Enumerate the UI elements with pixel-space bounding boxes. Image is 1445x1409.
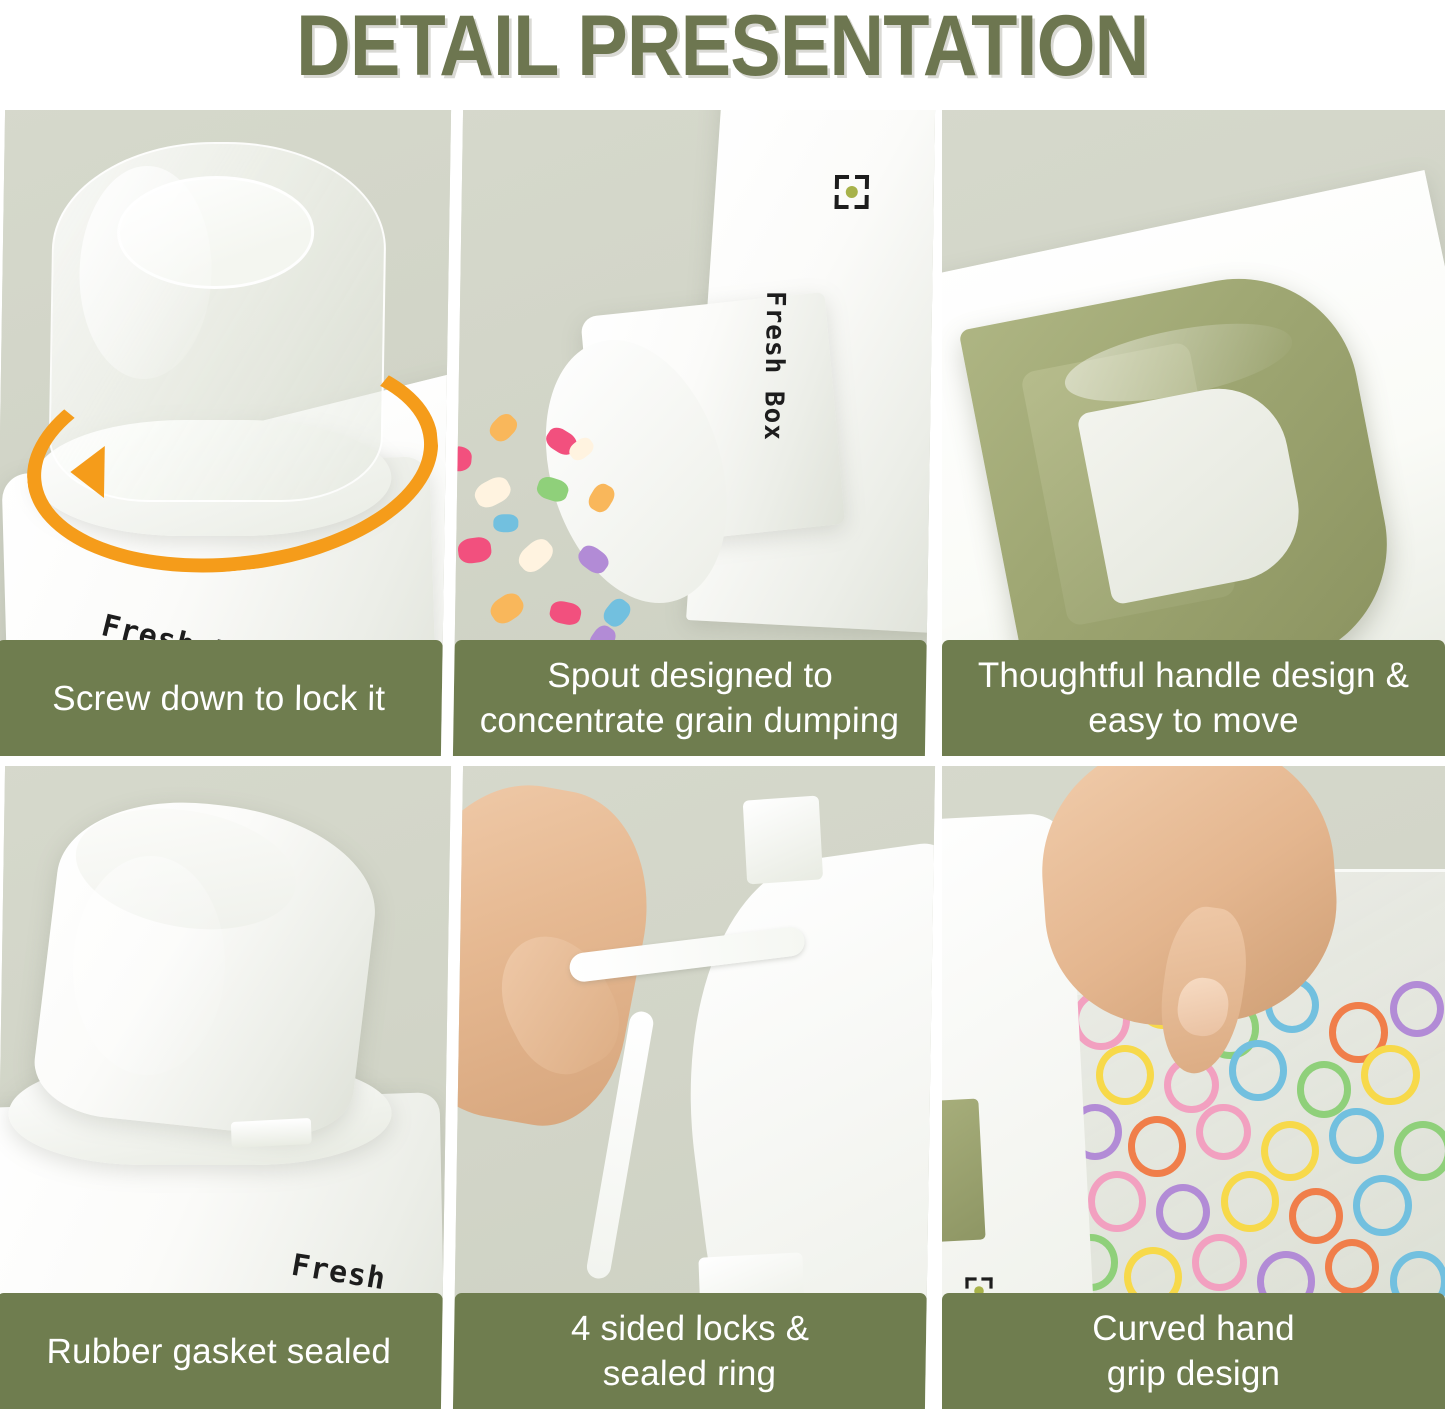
caption-screw-down-lock: Screw down to lock it — [0, 640, 443, 756]
caption-spout-design: Spout designed toconcentrate grain dumpi… — [453, 640, 927, 756]
panel-curved-grip[interactable]: Fresh Box Curved handgrip design — [942, 766, 1445, 1409]
rotate-arrow-head-icon — [70, 446, 105, 498]
caption-text: 4 sided locks &sealed ring — [570, 1306, 810, 1396]
product-label-fresh-box: Fresh Box — [758, 291, 790, 441]
gasket-tab — [231, 1118, 312, 1148]
caption-text: Curved handgrip design — [1092, 1306, 1295, 1396]
panel-four-sided-locks[interactable]: 4 sided locks &sealed ring — [453, 766, 935, 1409]
caption-text: Rubber gasket sealed — [46, 1329, 391, 1374]
infographic-page: DETAIL PRESENTATION Fresh Box — [0, 0, 1445, 1409]
caption-handle-design: Thoughtful handle design &easy to move — [942, 640, 1445, 756]
caption-curved-grip: Curved handgrip design — [942, 1293, 1445, 1409]
panel-screw-down-lock[interactable]: Fresh Box Screw down to lock it — [0, 110, 451, 756]
caption-text: Screw down to lock it — [52, 676, 386, 721]
side-lock-clip — [743, 796, 823, 885]
panel-spout-design[interactable]: Fresh Box Spout designed toconcentrate g… — [453, 110, 935, 756]
title-bar: DETAIL PRESENTATION — [0, 0, 1445, 98]
panel-handle-design[interactable]: Thoughtful handle design &easy to move — [942, 110, 1445, 756]
panel-grid: Fresh Box Screw down to lock it — [0, 98, 1445, 1409]
caption-text: Thoughtful handle design &easy to move — [978, 653, 1409, 743]
fresh-box-logo-icon — [834, 175, 869, 209]
panel-rubber-gasket[interactable]: Fresh Rubber gasket sealed — [0, 766, 451, 1409]
page-title: DETAIL PRESENTATION — [296, 0, 1148, 90]
caption-rubber-gasket: Rubber gasket sealed — [0, 1293, 443, 1409]
caption-text: Spout designed toconcentrate grain dumpi… — [479, 653, 900, 743]
side-lock-clip — [942, 1099, 986, 1243]
caption-four-sided-locks: 4 sided locks &sealed ring — [453, 1293, 927, 1409]
